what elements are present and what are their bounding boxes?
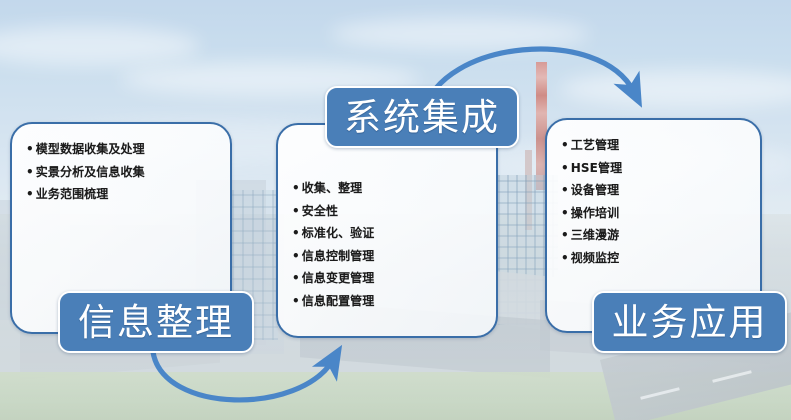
list-item: 操作培训 [561,202,750,225]
diagram-canvas: 模型数据收集及处理 实景分析及信息收集 业务范围梳理 收集、整理 安全性 标准化… [0,0,791,420]
bullet-list: 工艺管理 HSE管理 设备管理 操作培训 三维漫游 视频监控 [547,134,760,269]
list-item: 三维漫游 [561,224,750,247]
list-item: 信息变更管理 [292,267,486,290]
list-item: 视频监控 [561,247,750,270]
list-item: 信息控制管理 [292,245,486,268]
list-item: 信息配置管理 [292,290,486,313]
bullet-list: 收集、整理 安全性 标准化、验证 信息控制管理 信息变更管理 信息配置管理 [278,177,496,312]
list-item: HSE管理 [561,157,750,180]
list-item: 收集、整理 [292,177,486,200]
list-item: 设备管理 [561,179,750,202]
list-item: 实景分析及信息收集 [26,161,220,184]
stage-label-information-organization[interactable]: 信息整理 [58,291,254,353]
list-item: 工艺管理 [561,134,750,157]
panel-system-integration[interactable]: 收集、整理 安全性 标准化、验证 信息控制管理 信息变更管理 信息配置管理 [276,123,498,338]
arrow-bottom-left-to-middle [153,352,333,400]
stage-label-business-application[interactable]: 业务应用 [592,291,787,353]
bullet-list: 模型数据收集及处理 实景分析及信息收集 业务范围梳理 [12,138,230,206]
list-item: 模型数据收集及处理 [26,138,220,161]
list-item: 安全性 [292,200,486,223]
list-item: 标准化、验证 [292,222,486,245]
stage-label-system-integration[interactable]: 系统集成 [325,86,519,148]
list-item: 业务范围梳理 [26,183,220,206]
